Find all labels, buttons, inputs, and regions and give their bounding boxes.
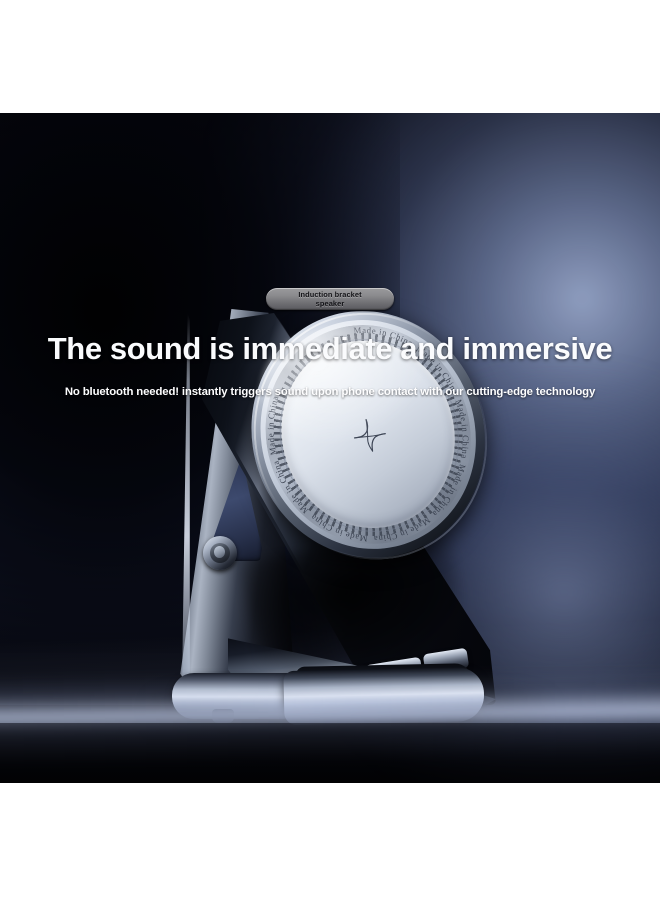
- product-hero-banner: Made in China Made in China Made in Chin…: [0, 113, 660, 783]
- hero-subheadline: No bluetooth needed! instantly triggers …: [0, 386, 660, 398]
- hero-headline: The sound is immediate and immersive: [0, 331, 660, 367]
- product-category-badge-text: Induction bracket speaker: [298, 290, 361, 309]
- page-root: Made in China Made in China Made in Chin…: [0, 0, 660, 900]
- product-category-badge: Induction bracket speaker: [266, 288, 394, 310]
- stand-rear-edge-highlight: [182, 313, 190, 685]
- stand-hinge-center-dot: [214, 546, 225, 558]
- badge-line-1: Induction bracket: [298, 290, 361, 299]
- badge-line-2: speaker: [316, 299, 345, 308]
- floor-dark-foreground: [0, 723, 660, 783]
